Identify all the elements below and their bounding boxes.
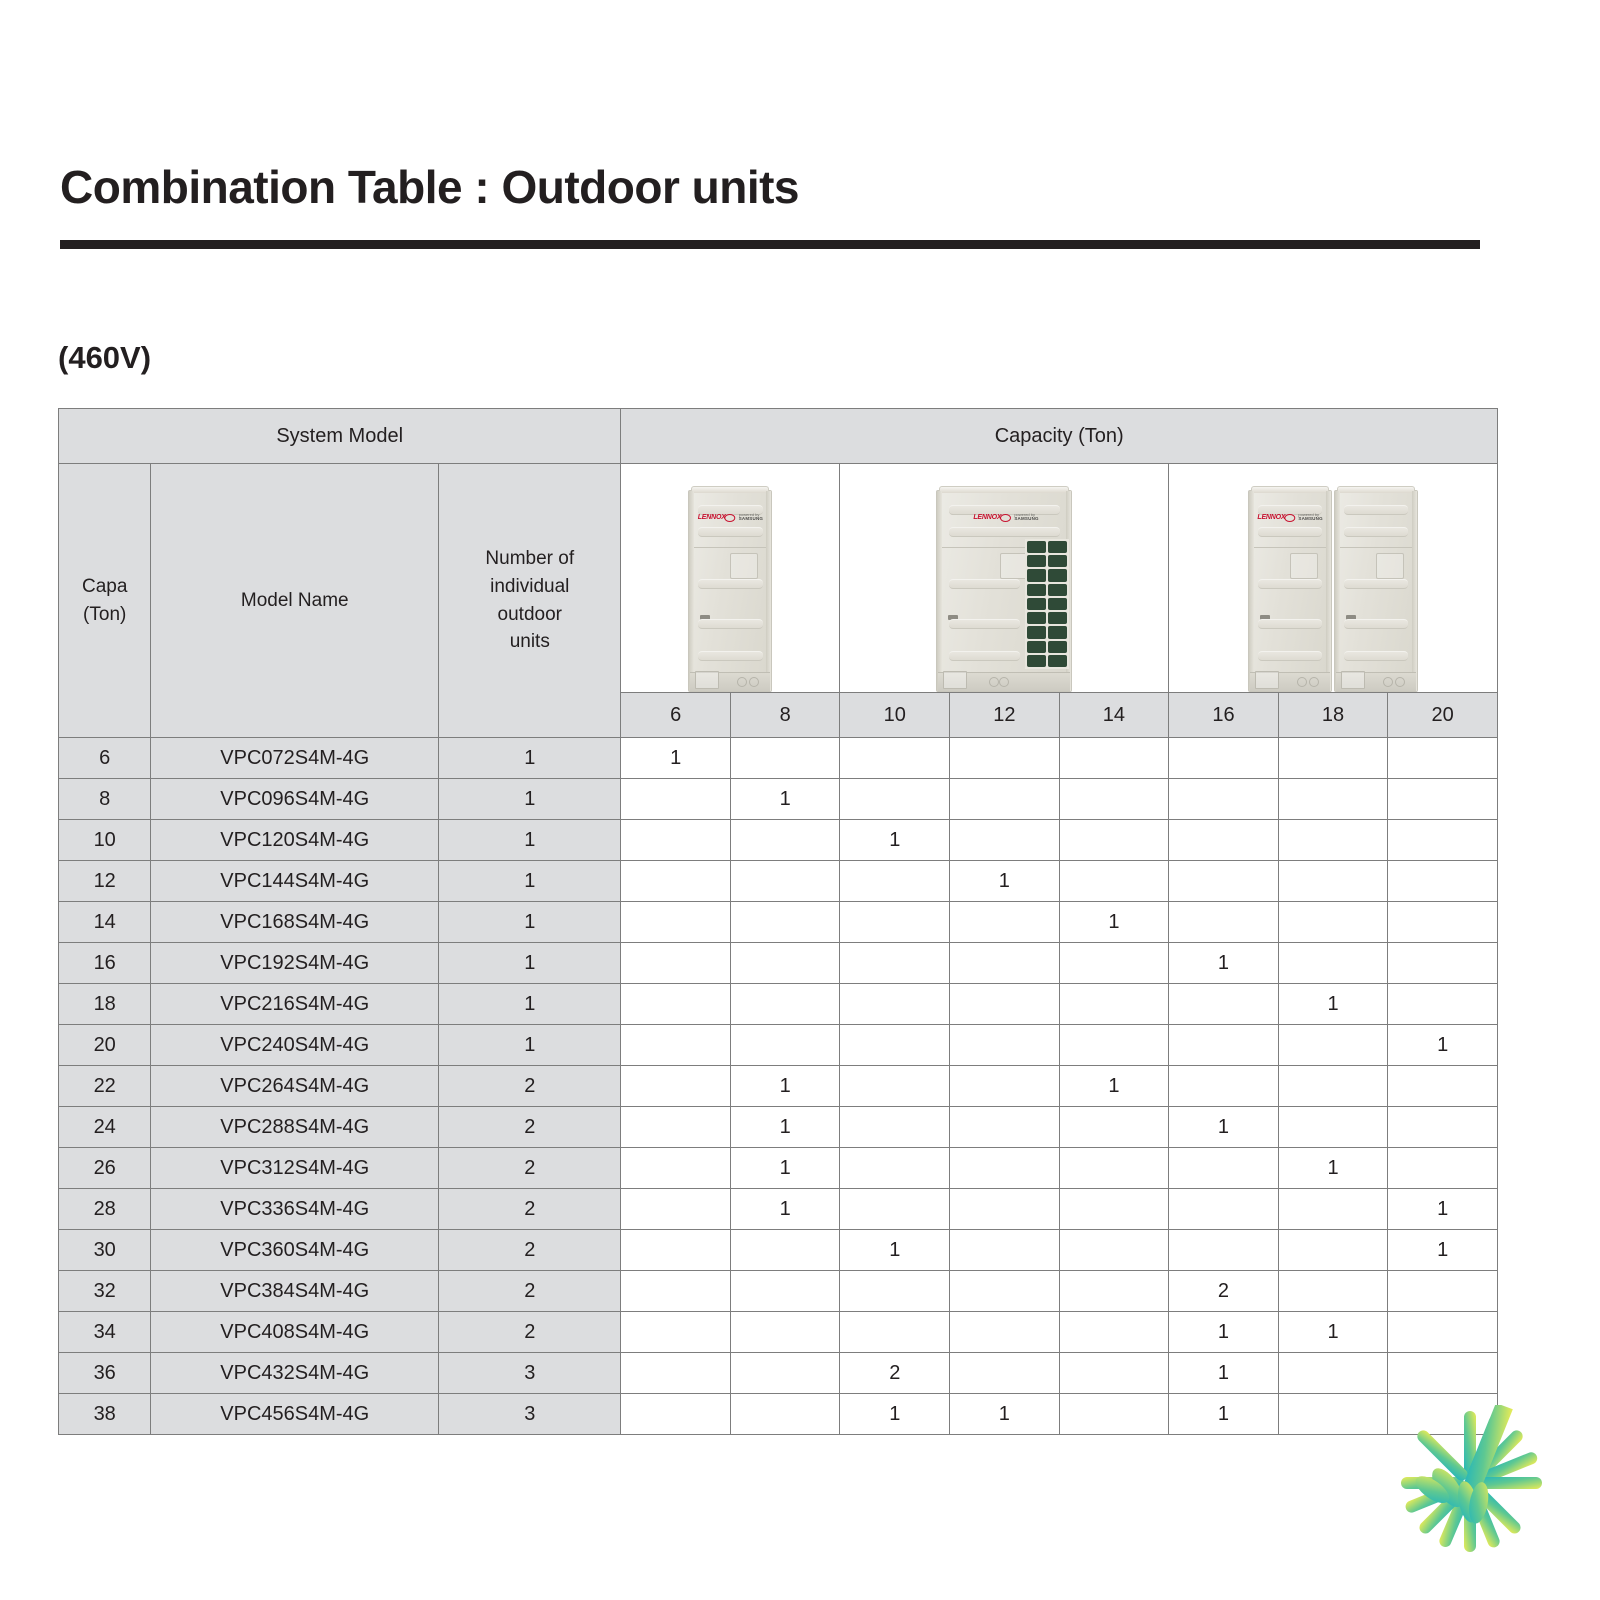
row-number-of-units: 1 — [439, 984, 621, 1025]
row-capa-ton: 8 — [59, 779, 151, 820]
table-row: 10VPC120S4M-4G11 — [59, 820, 1498, 861]
row-capacity-cell-18 — [1278, 1353, 1388, 1394]
row-model-name: VPC144S4M-4G — [151, 861, 439, 902]
row-capacity-cell-12 — [950, 1148, 1060, 1189]
row-capacity-cell-10 — [840, 1066, 950, 1107]
starburst-logo — [1395, 1405, 1545, 1555]
row-model-name: VPC240S4M-4G — [151, 1025, 439, 1066]
row-capa-ton: 14 — [59, 902, 151, 943]
combination-table: System Model Capacity (Ton) Capa (Ton) M… — [58, 408, 1498, 1435]
lennox-wordmark: LENNOX — [973, 514, 1001, 521]
row-capacity-cell-20 — [1388, 902, 1498, 943]
row-model-name: VPC168S4M-4G — [151, 902, 439, 943]
row-number-of-units: 1 — [439, 861, 621, 902]
row-number-of-units: 2 — [439, 1230, 621, 1271]
row-capacity-cell-16 — [1169, 820, 1279, 861]
row-capacity-cell-6 — [621, 1025, 731, 1066]
row-capacity-cell-16 — [1169, 1066, 1279, 1107]
row-capa-ton: 6 — [59, 738, 151, 779]
row-capacity-cell-6 — [621, 1066, 731, 1107]
row-capa-ton: 20 — [59, 1025, 151, 1066]
row-capacity-cell-16 — [1169, 861, 1279, 902]
row-capacity-cell-8 — [730, 1230, 840, 1271]
row-capacity-cell-16 — [1169, 1189, 1279, 1230]
row-model-name: VPC264S4M-4G — [151, 1066, 439, 1107]
row-capacity-cell-12 — [950, 1107, 1060, 1148]
row-model-name: VPC456S4M-4G — [151, 1394, 439, 1435]
row-capacity-cell-8: 1 — [730, 779, 840, 820]
row-model-name: VPC384S4M-4G — [151, 1271, 439, 1312]
row-capacity-cell-6 — [621, 1107, 731, 1148]
row-capa-ton: 22 — [59, 1066, 151, 1107]
row-capacity-cell-8 — [730, 1271, 840, 1312]
row-capacity-cell-8: 1 — [730, 1148, 840, 1189]
row-number-of-units: 2 — [439, 1066, 621, 1107]
row-capacity-cell-10 — [840, 943, 950, 984]
row-capacity-cell-12 — [950, 1312, 1060, 1353]
row-capacity-cell-18 — [1278, 820, 1388, 861]
row-capa-ton: 36 — [59, 1353, 151, 1394]
row-capacity-cell-16 — [1169, 902, 1279, 943]
header-system-model: System Model — [59, 409, 621, 464]
product-image-single-unit-with-coils: LENNOX powered by SAMSUNG — [840, 464, 1169, 693]
header-units-line4: units — [439, 628, 620, 656]
row-model-name: VPC096S4M-4G — [151, 779, 439, 820]
table-subheader-row: Capa (Ton) Model Name Number of individu… — [59, 464, 1498, 693]
row-capacity-cell-18 — [1278, 1394, 1388, 1435]
row-capacity-cell-8 — [730, 861, 840, 902]
row-capacity-cell-10 — [840, 1025, 950, 1066]
row-capacity-cell-6 — [621, 779, 731, 820]
row-capacity-cell-14 — [1059, 779, 1169, 820]
row-capacity-cell-20 — [1388, 1107, 1498, 1148]
row-capacity-cell-12 — [950, 779, 1060, 820]
row-model-name: VPC288S4M-4G — [151, 1107, 439, 1148]
row-capacity-cell-20 — [1388, 1312, 1498, 1353]
row-capacity-cell-6 — [621, 1353, 731, 1394]
lennox-wordmark: LENNOX — [698, 514, 726, 521]
row-capacity-cell-10 — [840, 779, 950, 820]
header-units-line3: outdoor — [439, 601, 620, 629]
row-capacity-cell-20 — [1388, 1353, 1498, 1394]
row-capacity-cell-18: 1 — [1278, 984, 1388, 1025]
row-model-name: VPC336S4M-4G — [151, 1189, 439, 1230]
table-row: 28VPC336S4M-4G211 — [59, 1189, 1498, 1230]
table-group-header-row: System Model Capacity (Ton) — [59, 409, 1498, 464]
product-image-single-unit: LENNOX powered by SAMSUNG — [621, 464, 840, 693]
row-capacity-cell-18 — [1278, 1107, 1388, 1148]
row-capa-ton: 18 — [59, 984, 151, 1025]
condenser-coil-grid — [1025, 539, 1069, 669]
lennox-oval-icon — [1284, 514, 1295, 522]
row-capacity-cell-16: 1 — [1169, 1394, 1279, 1435]
row-capacity-cell-18 — [1278, 902, 1388, 943]
row-capacity-cell-12 — [950, 1271, 1060, 1312]
row-capacity-cell-16 — [1169, 738, 1279, 779]
row-capa-ton: 16 — [59, 943, 151, 984]
row-model-name: VPC072S4M-4G — [151, 738, 439, 779]
row-capacity-cell-14 — [1059, 1148, 1169, 1189]
row-capacity-cell-16: 1 — [1169, 1312, 1279, 1353]
lennox-wordmark: LENNOX — [1257, 514, 1285, 521]
capacity-column-header-20: 20 — [1388, 693, 1498, 738]
row-capacity-cell-8 — [730, 1394, 840, 1435]
capacity-column-header-8: 8 — [730, 693, 840, 738]
row-capacity-cell-12 — [950, 1189, 1060, 1230]
row-capacity-cell-12 — [950, 984, 1060, 1025]
outdoor-unit-illustration-wide: LENNOX powered by SAMSUNG — [936, 490, 1072, 692]
row-capacity-cell-10 — [840, 1107, 950, 1148]
row-capacity-cell-8: 1 — [730, 1066, 840, 1107]
row-capacity-cell-8: 1 — [730, 1107, 840, 1148]
row-capacity-cell-10 — [840, 861, 950, 902]
table-row: 36VPC432S4M-4G321 — [59, 1353, 1498, 1394]
row-capacity-cell-10 — [840, 902, 950, 943]
row-number-of-units: 1 — [439, 820, 621, 861]
row-capa-ton: 26 — [59, 1148, 151, 1189]
row-number-of-units: 2 — [439, 1148, 621, 1189]
row-model-name: VPC360S4M-4G — [151, 1230, 439, 1271]
row-capa-ton: 30 — [59, 1230, 151, 1271]
row-capacity-cell-14: 1 — [1059, 902, 1169, 943]
row-capacity-cell-16 — [1169, 1230, 1279, 1271]
row-capacity-cell-12 — [950, 738, 1060, 779]
row-capacity-cell-12 — [950, 820, 1060, 861]
row-capacity-cell-14 — [1059, 738, 1169, 779]
row-capa-ton: 28 — [59, 1189, 151, 1230]
header-units-line1: Number of — [439, 545, 620, 573]
row-capa-ton: 38 — [59, 1394, 151, 1435]
row-capacity-cell-10: 2 — [840, 1353, 950, 1394]
table-row: 20VPC240S4M-4G11 — [59, 1025, 1498, 1066]
row-capacity-cell-20: 1 — [1388, 1025, 1498, 1066]
row-capacity-cell-14 — [1059, 861, 1169, 902]
row-capacity-cell-20: 1 — [1388, 1189, 1498, 1230]
row-capacity-cell-12 — [950, 943, 1060, 984]
samsung-partner-mark: powered by SAMSUNG — [1014, 513, 1038, 522]
row-capacity-cell-18 — [1278, 1271, 1388, 1312]
header-capacity: Capacity (Ton) — [621, 409, 1498, 464]
row-capacity-cell-18 — [1278, 738, 1388, 779]
row-capacity-cell-20 — [1388, 779, 1498, 820]
row-capacity-cell-6 — [621, 1394, 731, 1435]
row-capacity-cell-8 — [730, 1025, 840, 1066]
capacity-column-header-14: 14 — [1059, 693, 1169, 738]
table-row: 30VPC360S4M-4G211 — [59, 1230, 1498, 1271]
row-number-of-units: 1 — [439, 738, 621, 779]
row-capacity-cell-8 — [730, 943, 840, 984]
row-model-name: VPC432S4M-4G — [151, 1353, 439, 1394]
row-number-of-units: 1 — [439, 943, 621, 984]
table-row: 34VPC408S4M-4G211 — [59, 1312, 1498, 1353]
row-capacity-cell-12: 1 — [950, 861, 1060, 902]
row-capacity-cell-14 — [1059, 1230, 1169, 1271]
header-number-of-units: Number of individual outdoor units — [439, 464, 621, 738]
table-row: 6VPC072S4M-4G11 — [59, 738, 1498, 779]
row-capacity-cell-18 — [1278, 1025, 1388, 1066]
row-capacity-cell-20 — [1388, 1066, 1498, 1107]
outdoor-unit-illustration-right — [1334, 490, 1418, 692]
row-capacity-cell-16: 2 — [1169, 1271, 1279, 1312]
table-row: 16VPC192S4M-4G11 — [59, 943, 1498, 984]
outdoor-unit-illustration: LENNOX powered by SAMSUNG — [688, 490, 772, 692]
row-capa-ton: 34 — [59, 1312, 151, 1353]
row-capacity-cell-16: 1 — [1169, 1353, 1279, 1394]
row-capacity-cell-12 — [950, 1025, 1060, 1066]
lennox-logo: LENNOX powered by SAMSUNG — [1257, 513, 1322, 522]
row-model-name: VPC120S4M-4G — [151, 820, 439, 861]
row-number-of-units: 2 — [439, 1107, 621, 1148]
row-capacity-cell-8 — [730, 1353, 840, 1394]
row-capacity-cell-14 — [1059, 1107, 1169, 1148]
row-capacity-cell-8: 1 — [730, 1189, 840, 1230]
row-number-of-units: 3 — [439, 1394, 621, 1435]
header-capa-line2: (Ton) — [59, 601, 150, 629]
row-capa-ton: 32 — [59, 1271, 151, 1312]
header-capa-ton: Capa (Ton) — [59, 464, 151, 738]
table-row: 26VPC312S4M-4G211 — [59, 1148, 1498, 1189]
row-model-name: VPC408S4M-4G — [151, 1312, 439, 1353]
outdoor-unit-illustration-left: LENNOX powered by SAMSUNG — [1248, 490, 1332, 692]
row-model-name: VPC216S4M-4G — [151, 984, 439, 1025]
row-capacity-cell-14 — [1059, 1189, 1169, 1230]
row-number-of-units: 2 — [439, 1312, 621, 1353]
row-capacity-cell-18: 1 — [1278, 1148, 1388, 1189]
row-capacity-cell-10 — [840, 984, 950, 1025]
header-model-name: Model Name — [151, 464, 439, 738]
row-capacity-cell-12 — [950, 1353, 1060, 1394]
row-capacity-cell-20 — [1388, 738, 1498, 779]
row-capacity-cell-14 — [1059, 1312, 1169, 1353]
row-capacity-cell-18 — [1278, 779, 1388, 820]
row-capacity-cell-20 — [1388, 984, 1498, 1025]
row-capacity-cell-20 — [1388, 1148, 1498, 1189]
capacity-column-header-10: 10 — [840, 693, 950, 738]
page-title: Combination Table : Outdoor units — [60, 160, 799, 214]
row-capacity-cell-14 — [1059, 1353, 1169, 1394]
row-capacity-cell-6 — [621, 902, 731, 943]
capacity-column-header-6: 6 — [621, 693, 731, 738]
row-capacity-cell-16: 1 — [1169, 1107, 1279, 1148]
row-capacity-cell-16 — [1169, 1025, 1279, 1066]
row-capacity-cell-6 — [621, 1271, 731, 1312]
row-capa-ton: 24 — [59, 1107, 151, 1148]
row-capacity-cell-18 — [1278, 861, 1388, 902]
table-row: 18VPC216S4M-4G11 — [59, 984, 1498, 1025]
row-capacity-cell-16 — [1169, 984, 1279, 1025]
combination-table-wrap: System Model Capacity (Ton) Capa (Ton) M… — [58, 408, 1498, 1435]
row-number-of-units: 1 — [439, 779, 621, 820]
row-capacity-cell-18 — [1278, 1230, 1388, 1271]
row-capacity-cell-8 — [730, 1312, 840, 1353]
samsung-partner-mark: powered by SAMSUNG — [739, 513, 763, 522]
row-capacity-cell-12: 1 — [950, 1394, 1060, 1435]
row-capacity-cell-6 — [621, 943, 731, 984]
row-capacity-cell-16: 1 — [1169, 943, 1279, 984]
row-capacity-cell-8 — [730, 738, 840, 779]
row-capacity-cell-14 — [1059, 1271, 1169, 1312]
table-row: 8VPC096S4M-4G11 — [59, 779, 1498, 820]
row-capacity-cell-10 — [840, 1189, 950, 1230]
row-capacity-cell-18 — [1278, 943, 1388, 984]
row-capacity-cell-12 — [950, 1066, 1060, 1107]
row-model-name: VPC192S4M-4G — [151, 943, 439, 984]
row-capacity-cell-6 — [621, 984, 731, 1025]
row-capacity-cell-20 — [1388, 820, 1498, 861]
row-capacity-cell-18: 1 — [1278, 1312, 1388, 1353]
row-capacity-cell-14 — [1059, 984, 1169, 1025]
product-image-dual-units: LENNOX powered by SAMSUNG — [1169, 464, 1498, 693]
row-capacity-cell-10 — [840, 1271, 950, 1312]
row-capacity-cell-14: 1 — [1059, 1066, 1169, 1107]
table-body: 6VPC072S4M-4G118VPC096S4M-4G1110VPC120S4… — [59, 738, 1498, 1435]
header-units-line2: individual — [439, 573, 620, 601]
table-row: 14VPC168S4M-4G11 — [59, 902, 1498, 943]
row-capacity-cell-16 — [1169, 779, 1279, 820]
row-number-of-units: 1 — [439, 1025, 621, 1066]
row-model-name: VPC312S4M-4G — [151, 1148, 439, 1189]
page-root: Combination Table : Outdoor units (460V)… — [0, 0, 1600, 1600]
lennox-oval-icon — [1000, 514, 1011, 522]
row-capacity-cell-8 — [730, 820, 840, 861]
table-row: 22VPC264S4M-4G211 — [59, 1066, 1498, 1107]
row-capacity-cell-20 — [1388, 861, 1498, 902]
row-capacity-cell-20 — [1388, 1271, 1498, 1312]
row-capacity-cell-6 — [621, 861, 731, 902]
title-underline — [60, 240, 1480, 249]
row-capacity-cell-10: 1 — [840, 820, 950, 861]
row-capacity-cell-10: 1 — [840, 1394, 950, 1435]
table-row: 24VPC288S4M-4G211 — [59, 1107, 1498, 1148]
row-capacity-cell-10 — [840, 1148, 950, 1189]
row-capacity-cell-10 — [840, 1312, 950, 1353]
row-capacity-cell-6: 1 — [621, 738, 731, 779]
lennox-logo: LENNOX powered by SAMSUNG — [698, 513, 763, 522]
row-capacity-cell-20 — [1388, 943, 1498, 984]
row-number-of-units: 2 — [439, 1189, 621, 1230]
row-capacity-cell-8 — [730, 902, 840, 943]
capacity-column-header-18: 18 — [1278, 693, 1388, 738]
row-capacity-cell-8 — [730, 984, 840, 1025]
row-capacity-cell-6 — [621, 820, 731, 861]
row-capacity-cell-10: 1 — [840, 1230, 950, 1271]
row-capa-ton: 12 — [59, 861, 151, 902]
samsung-partner-mark: powered by SAMSUNG — [1298, 513, 1322, 522]
row-capacity-cell-14 — [1059, 1394, 1169, 1435]
row-capacity-cell-18 — [1278, 1066, 1388, 1107]
row-capacity-cell-6 — [621, 1230, 731, 1271]
table-row: 32VPC384S4M-4G22 — [59, 1271, 1498, 1312]
row-capacity-cell-6 — [621, 1148, 731, 1189]
row-capacity-cell-14 — [1059, 820, 1169, 861]
voltage-subtitle: (460V) — [58, 340, 151, 376]
header-capa-line1: Capa — [59, 573, 150, 601]
lennox-logo: LENNOX powered by SAMSUNG — [973, 513, 1038, 522]
lennox-oval-icon — [725, 514, 736, 522]
row-capacity-cell-14 — [1059, 1025, 1169, 1066]
row-number-of-units: 3 — [439, 1353, 621, 1394]
row-capa-ton: 10 — [59, 820, 151, 861]
row-capacity-cell-16 — [1169, 1148, 1279, 1189]
row-capacity-cell-12 — [950, 1230, 1060, 1271]
row-capacity-cell-12 — [950, 902, 1060, 943]
capacity-column-header-16: 16 — [1169, 693, 1279, 738]
row-capacity-cell-6 — [621, 1189, 731, 1230]
row-number-of-units: 1 — [439, 902, 621, 943]
row-capacity-cell-6 — [621, 1312, 731, 1353]
table-row: 38VPC456S4M-4G3111 — [59, 1394, 1498, 1435]
row-number-of-units: 2 — [439, 1271, 621, 1312]
row-capacity-cell-18 — [1278, 1189, 1388, 1230]
capacity-column-header-12: 12 — [950, 693, 1060, 738]
row-capacity-cell-10 — [840, 738, 950, 779]
row-capacity-cell-14 — [1059, 943, 1169, 984]
row-capacity-cell-20: 1 — [1388, 1230, 1498, 1271]
table-row: 12VPC144S4M-4G11 — [59, 861, 1498, 902]
